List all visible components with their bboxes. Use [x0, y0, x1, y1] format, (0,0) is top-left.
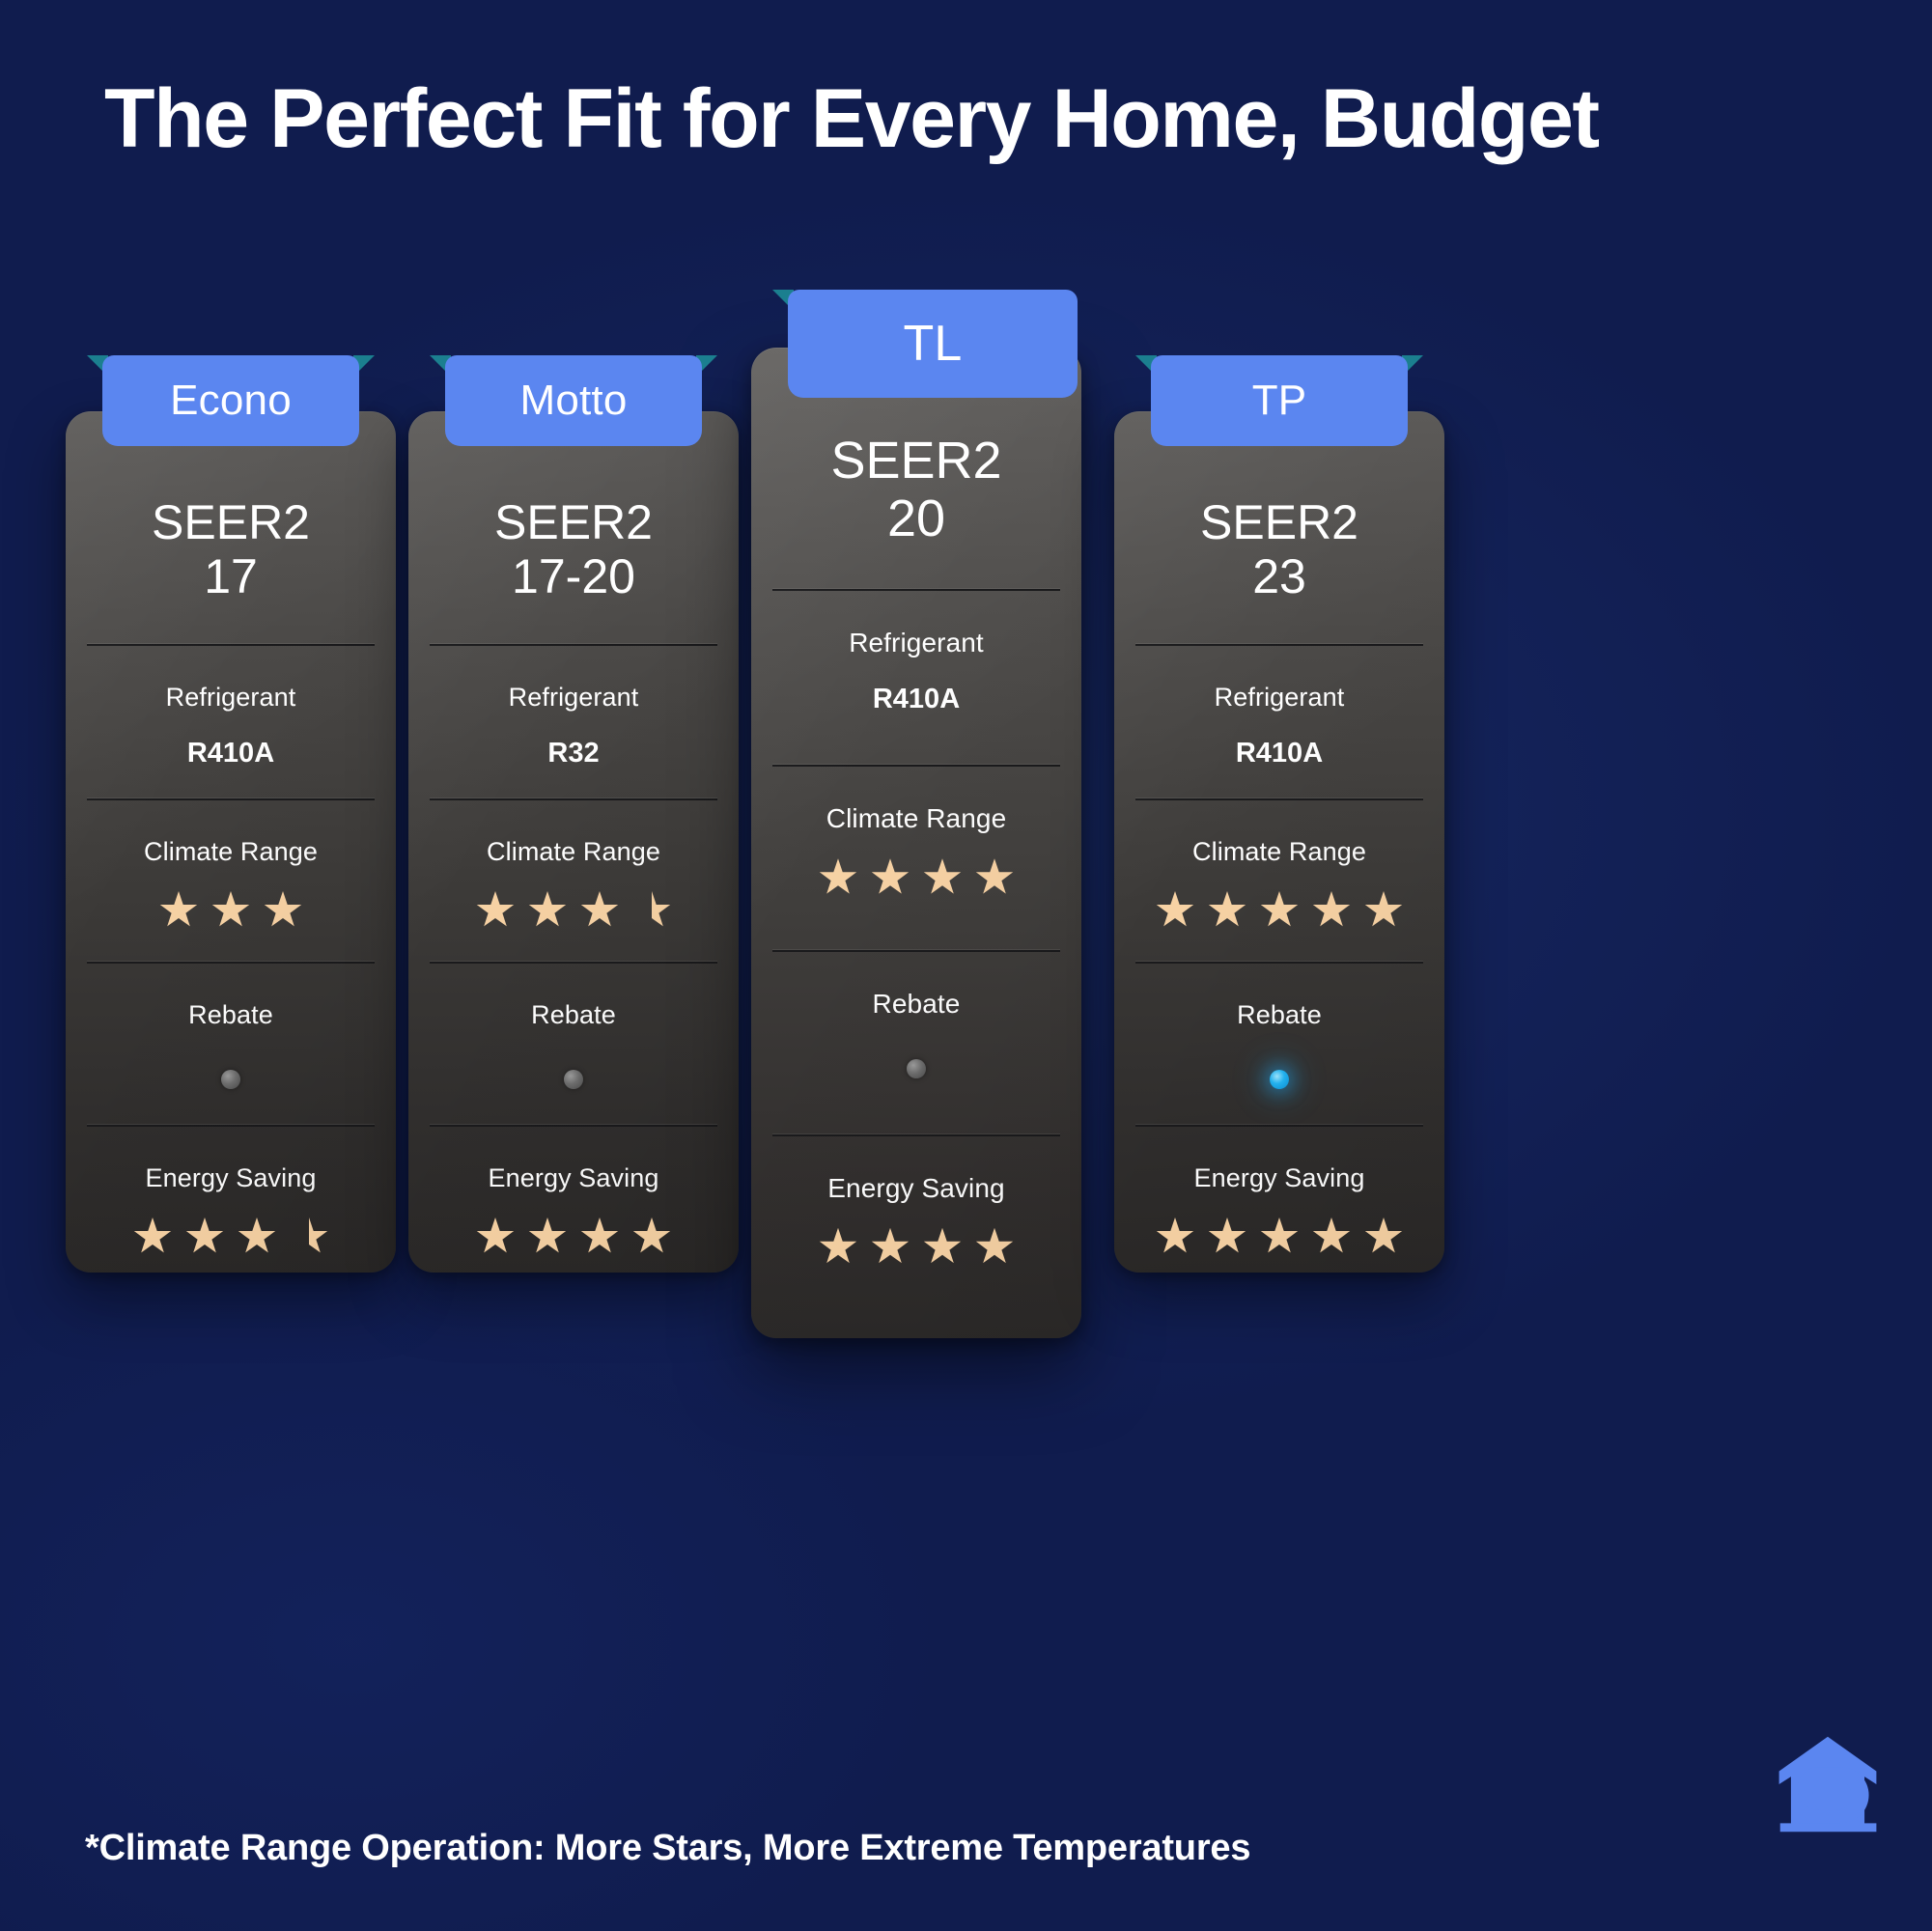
- star-icon: [1156, 891, 1194, 930]
- rebate-indicator: [87, 1063, 375, 1096]
- star-icon: [1260, 1217, 1299, 1256]
- seer-block: SEER2 17-20: [430, 469, 717, 644]
- star-icon: [871, 1228, 910, 1267]
- refrigerant-value: R410A: [1135, 738, 1423, 770]
- product-card-tl[interactable]: TL SEER2 20 Refrigerant R410A Climate Ra…: [751, 290, 1081, 1338]
- refrigerant-value: R410A: [772, 684, 1060, 715]
- product-card-econo[interactable]: Econo SEER2 17 Refrigerant R410A Climate…: [66, 355, 396, 1273]
- star-icon: [632, 1217, 671, 1256]
- product-tab-label[interactable]: Motto: [445, 355, 702, 446]
- seer-value: 23: [1135, 548, 1423, 605]
- star-icon: [819, 858, 857, 897]
- seer-value: 20: [772, 489, 1060, 550]
- energy-saving-stars: [1135, 1215, 1423, 1259]
- star-icon: [133, 1217, 172, 1256]
- energy-saving-stars: [87, 1215, 375, 1259]
- page-title: The Perfect Fit for Every Home, Budget: [104, 75, 1862, 162]
- climate-range-label: Climate Range: [87, 837, 375, 867]
- star-icon: [1364, 891, 1403, 930]
- refrigerant-row: Refrigerant R32: [430, 644, 717, 798]
- half-star-icon: [290, 1217, 328, 1256]
- star-icon: [1156, 1217, 1194, 1256]
- product-tab-label[interactable]: TL: [788, 290, 1078, 398]
- energy-saving-row: Energy Saving: [430, 1125, 717, 1273]
- half-star-icon: [632, 891, 671, 930]
- star-icon: [185, 1217, 224, 1256]
- house-logo: [1774, 1730, 1882, 1838]
- rebate-dot-inactive-icon: [564, 1070, 583, 1089]
- rebate-row: Rebate: [1135, 962, 1423, 1125]
- seer-label: SEER2: [430, 496, 717, 548]
- seer-block: SEER2 17: [87, 469, 375, 644]
- rebate-dot-inactive-icon: [907, 1059, 926, 1078]
- star-icon: [871, 858, 910, 897]
- climate-range-row: Climate Range: [1135, 798, 1423, 962]
- energy-saving-row: Energy Saving: [1135, 1125, 1423, 1273]
- rebate-indicator: [772, 1052, 1060, 1085]
- rebate-indicator: [430, 1063, 717, 1096]
- rebate-label: Rebate: [87, 1000, 375, 1030]
- climate-range-stars: [772, 855, 1060, 900]
- refrigerant-row: Refrigerant R410A: [772, 589, 1060, 765]
- refrigerant-label: Refrigerant: [430, 683, 717, 713]
- star-icon: [975, 858, 1014, 897]
- star-icon: [1312, 1217, 1351, 1256]
- climate-range-row: Climate Range: [87, 798, 375, 962]
- seer-value: 17-20: [430, 548, 717, 605]
- climate-range-stars: [87, 888, 375, 933]
- climate-range-label: Climate Range: [772, 803, 1060, 834]
- seer-block: SEER2 20: [772, 406, 1060, 589]
- rebate-row: Rebate: [772, 950, 1060, 1134]
- energy-saving-stars: [772, 1225, 1060, 1270]
- star-icon: [238, 1217, 276, 1256]
- energy-saving-stars: [430, 1215, 717, 1259]
- product-tab-label[interactable]: TP: [1151, 355, 1408, 446]
- star-icon: [1364, 1217, 1403, 1256]
- rebate-label: Rebate: [1135, 1000, 1423, 1030]
- star-icon: [923, 858, 962, 897]
- star-icon: [264, 891, 302, 930]
- star-icon: [476, 1217, 515, 1256]
- refrigerant-label: Refrigerant: [772, 628, 1060, 658]
- product-card-motto[interactable]: Motto SEER2 17-20 Refrigerant R32 Climat…: [408, 355, 739, 1273]
- energy-saving-label: Energy Saving: [430, 1163, 717, 1193]
- climate-range-label: Climate Range: [1135, 837, 1423, 867]
- refrigerant-label: Refrigerant: [1135, 683, 1423, 713]
- star-icon: [975, 1228, 1014, 1267]
- star-icon: [819, 1228, 857, 1267]
- star-icon: [1312, 891, 1351, 930]
- product-card-rail: Econo SEER2 17 Refrigerant R410A Climate…: [66, 355, 1862, 1437]
- refrigerant-label: Refrigerant: [87, 683, 375, 713]
- star-icon: [923, 1228, 962, 1267]
- product-card-tp[interactable]: TP SEER2 23 Refrigerant R410A Climate Ra…: [1114, 355, 1444, 1273]
- seer-label: SEER2: [1135, 496, 1423, 548]
- star-icon: [1208, 1217, 1246, 1256]
- climate-range-label: Climate Range: [430, 837, 717, 867]
- seer-value: 17: [87, 548, 375, 605]
- star-icon: [211, 891, 250, 930]
- star-icon: [580, 891, 619, 930]
- climate-range-row: Climate Range: [430, 798, 717, 962]
- refrigerant-row: Refrigerant R410A: [87, 644, 375, 798]
- rebate-row: Rebate: [87, 962, 375, 1125]
- climate-range-stars: [1135, 888, 1423, 933]
- rebate-dot-inactive-icon: [221, 1070, 240, 1089]
- seer-block: SEER2 23: [1135, 469, 1423, 644]
- star-icon: [528, 891, 567, 930]
- rebate-row: Rebate: [430, 962, 717, 1125]
- refrigerant-row: Refrigerant R410A: [1135, 644, 1423, 798]
- star-icon: [528, 1217, 567, 1256]
- rebate-label: Rebate: [430, 1000, 717, 1030]
- star-icon: [580, 1217, 619, 1256]
- energy-saving-row: Energy Saving: [772, 1134, 1060, 1319]
- product-tab-label[interactable]: Econo: [102, 355, 359, 446]
- refrigerant-value: R410A: [87, 738, 375, 770]
- star-icon: [1260, 891, 1299, 930]
- star-icon: [1208, 891, 1246, 930]
- climate-range-stars: [430, 888, 717, 933]
- star-icon: [476, 891, 515, 930]
- refrigerant-value: R32: [430, 738, 717, 770]
- energy-saving-label: Energy Saving: [772, 1173, 1060, 1204]
- rebate-label: Rebate: [772, 989, 1060, 1020]
- energy-saving-label: Energy Saving: [87, 1163, 375, 1193]
- climate-range-row: Climate Range: [772, 765, 1060, 949]
- footnote-text: *Climate Range Operation: More Stars, Mo…: [85, 1828, 1250, 1869]
- energy-saving-label: Energy Saving: [1135, 1163, 1423, 1193]
- star-icon: [159, 891, 198, 930]
- seer-label: SEER2: [772, 433, 1060, 489]
- rebate-indicator: [1135, 1063, 1423, 1096]
- rebate-dot-active-icon: [1270, 1070, 1289, 1089]
- seer-label: SEER2: [87, 496, 375, 548]
- energy-saving-row: Energy Saving: [87, 1125, 375, 1273]
